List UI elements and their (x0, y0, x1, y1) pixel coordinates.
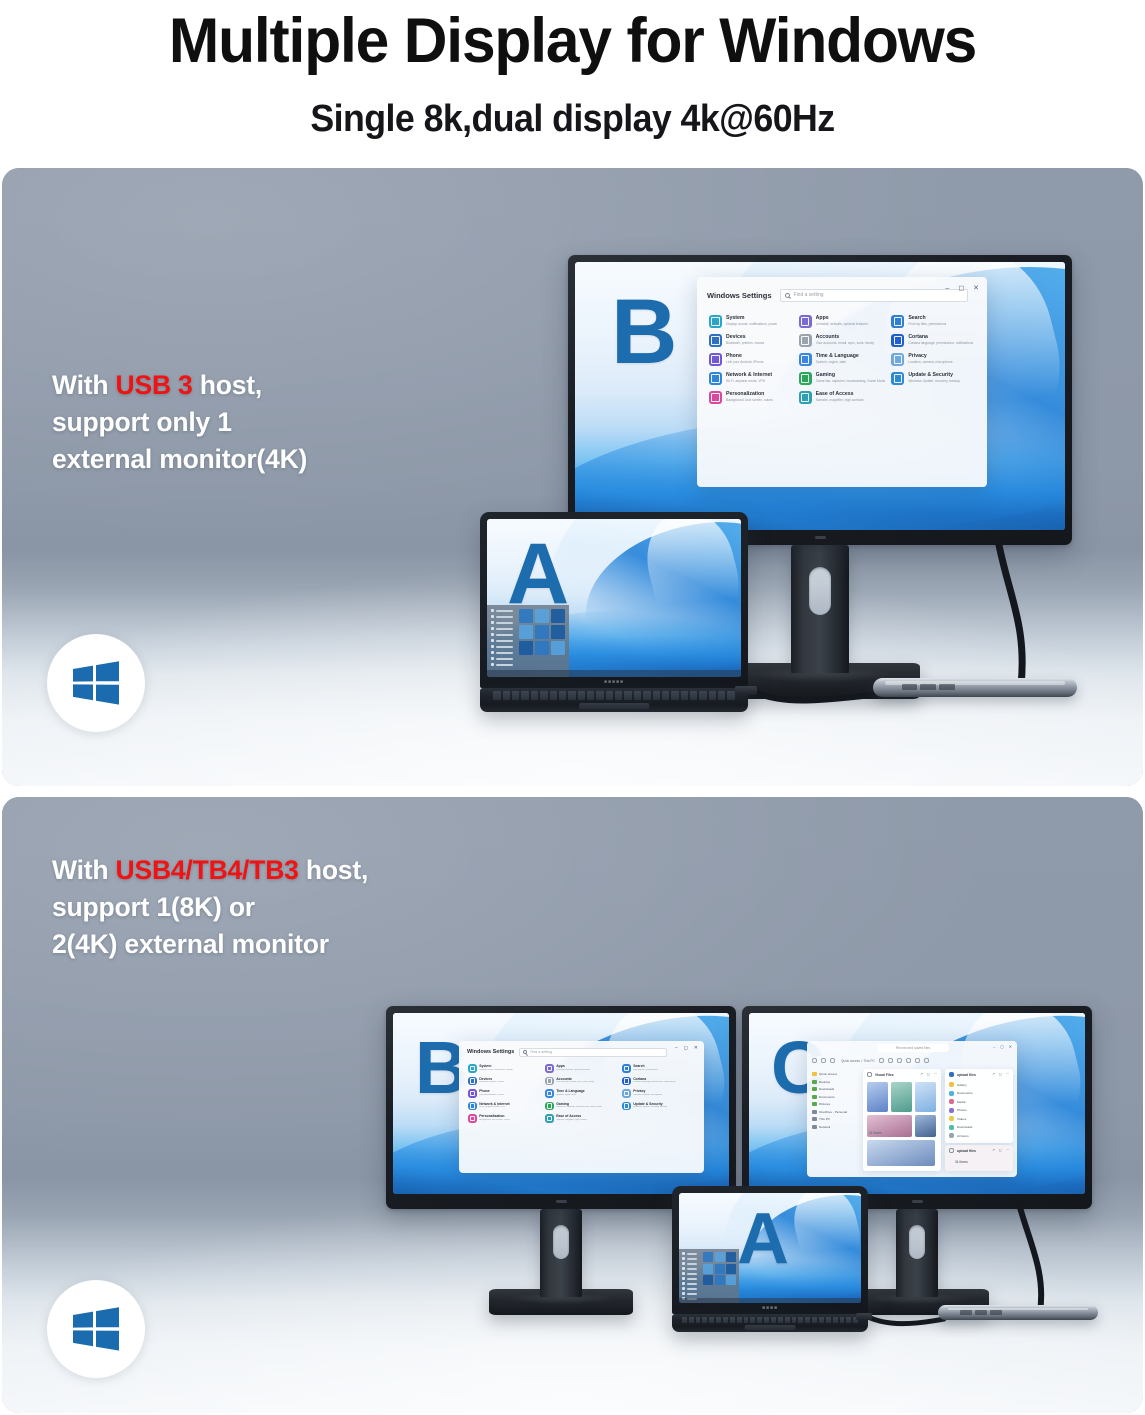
phone-icon (709, 353, 722, 366)
settings-item-text: Ease of AccessNarrator, magnifier, high … (816, 391, 864, 402)
card-actions[interactable]: ↗ ◻ ⋯ (920, 1072, 937, 1076)
keyboard-key[interactable] (737, 1317, 742, 1323)
laptop-a: A ■■■■■ (480, 512, 748, 712)
close-icon[interactable]: ✕ (973, 284, 979, 292)
keyboard-key[interactable] (723, 1317, 728, 1323)
keyboard-key[interactable] (671, 691, 678, 699)
settings-item[interactable]: PersonalizationBackground, lock screen, … (709, 391, 793, 404)
taskbar[interactable] (487, 670, 741, 677)
settings-item-text: SearchFind my files, permissions (908, 315, 946, 326)
settings-item[interactable]: DevicesBluetooth, printers, mouse (468, 1077, 541, 1086)
keyboard-key[interactable] (531, 691, 538, 699)
minimize-icon[interactable]: – (945, 285, 949, 292)
keyboard-key[interactable] (709, 1317, 714, 1323)
settings-item[interactable]: SearchFind my files, permissions (622, 1064, 695, 1073)
file-list-item[interactable]: Media (949, 1099, 1009, 1104)
photo-thumbnail[interactable] (867, 1140, 935, 1166)
app-label (496, 664, 513, 666)
maximize-icon[interactable]: ◻ (958, 284, 964, 292)
laptop-brand: ■■■■■ (480, 677, 748, 687)
settings-item[interactable]: PrivacyLocation, camera, microphone (622, 1089, 695, 1098)
copy-icon[interactable]: ◻ (927, 1072, 930, 1076)
settings-item-description: Display, sound, notifications, power (726, 322, 777, 326)
card-actions[interactable]: ↗ ◻ ⋯ (992, 1148, 1009, 1152)
settings-item-label: Ease of Access (816, 391, 864, 397)
settings-item-text: SearchFind my files, permissions (633, 1064, 658, 1071)
start-menu-app-item[interactable] (491, 645, 515, 648)
start-menu-app-item[interactable] (491, 627, 515, 630)
usb-hub-dock (873, 678, 1077, 697)
settings-item[interactable]: GamingGame bar, captures, broadcasting, … (545, 1102, 618, 1111)
cable-hole (809, 567, 831, 615)
settings-item-text: Ease of AccessNarrator, magnifier, high … (556, 1114, 587, 1121)
app-icon (491, 627, 494, 630)
settings-item[interactable]: SearchFind my files, permissions (891, 315, 975, 328)
settings-grid: SystemDisplay, sound, notifications, pow… (459, 1063, 704, 1123)
settings-item-description: Uninstall, defaults, optional features (816, 322, 868, 326)
file-list-item[interactable]: Documents (949, 1091, 1009, 1096)
usb-a-port (960, 1310, 972, 1315)
hub-ports (960, 1310, 1002, 1315)
file-list-item[interactable]: Photos (949, 1108, 1009, 1113)
rename-button[interactable] (888, 1058, 893, 1063)
settings-search-placeholder: Find a setting (530, 1050, 552, 1054)
search-icon (523, 1050, 527, 1054)
settings-item[interactable]: PersonalizationBackground, lock screen, … (468, 1114, 541, 1123)
language-icon (545, 1089, 554, 1098)
access-icon (799, 391, 812, 404)
start-menu-tile[interactable] (519, 609, 533, 623)
keyboard-key[interactable] (682, 1317, 687, 1323)
app-label (687, 1258, 697, 1260)
expand-icon[interactable]: ↗ (992, 1148, 995, 1152)
copy-icon[interactable]: ◻ (999, 1072, 1002, 1076)
phone-icon (468, 1089, 477, 1098)
more-icon[interactable]: ⋯ (934, 1072, 937, 1076)
start-menu-app-item[interactable] (491, 621, 515, 624)
windows-settings-window[interactable]: Windows Settings Find a setting – ◻ ✕ Sy… (459, 1041, 704, 1173)
settings-title: Windows Settings (467, 1049, 514, 1055)
start-menu-tile[interactable] (551, 609, 565, 623)
start-menu-tile[interactable] (715, 1264, 725, 1274)
keyboard[interactable] (682, 1317, 858, 1323)
keyboard-key[interactable] (634, 691, 641, 699)
keyboard-key[interactable] (606, 691, 613, 699)
close-icon[interactable]: ✕ (694, 1045, 698, 1051)
more-icon[interactable]: ⋯ (1006, 1148, 1009, 1152)
maximize-icon[interactable]: ◻ (1000, 1044, 1003, 1049)
explorer-tab[interactable]: Recent and saved files (877, 1044, 949, 1052)
settings-item[interactable]: Network & InternetWi-Fi, airplane mode, … (709, 372, 793, 385)
more-icon[interactable]: ⋯ (1006, 1072, 1009, 1076)
explorer-card-collapsed[interactable]: upload files ↗ ◻ ⋯ 31 items (945, 1145, 1013, 1171)
file-type-icon (949, 1133, 954, 1138)
keyboard-key[interactable] (624, 691, 631, 699)
start-menu-app-item[interactable] (491, 615, 515, 618)
start-menu-tile[interactable] (703, 1252, 713, 1262)
start-menu-tile[interactable] (726, 1252, 736, 1262)
start-menu-tile[interactable] (519, 641, 533, 655)
settings-item-description: Uninstall, defaults, optional features (556, 1069, 590, 1071)
keyboard-key[interactable] (730, 1317, 735, 1323)
keyboard-key[interactable] (792, 1317, 797, 1323)
gaming-icon (545, 1102, 554, 1111)
settings-item-description: Background, lock screen, colors (726, 398, 773, 402)
settings-item[interactable]: AccountsYour accounts, email, sync, work… (799, 334, 886, 347)
file-type-icon (949, 1108, 954, 1113)
settings-item-text: Time & LanguageSpeech, region, date (556, 1089, 584, 1096)
sidebar-item-label: This PC (819, 1117, 830, 1121)
keyboard-key[interactable] (503, 691, 510, 699)
sidebar-item-network[interactable]: Network (812, 1125, 855, 1129)
accounts-icon (799, 334, 812, 347)
keyboard-key[interactable] (653, 691, 660, 699)
start-menu-app-item[interactable] (682, 1272, 700, 1275)
usb-a-port (902, 684, 918, 690)
keyboard-key[interactable] (709, 691, 716, 699)
start-menu-app-item[interactable] (491, 657, 515, 660)
start-menu-app-item[interactable] (682, 1257, 700, 1260)
start-menu-app-item[interactable] (491, 663, 515, 666)
globe-icon (468, 1102, 477, 1111)
keyboard-key[interactable] (805, 1317, 810, 1323)
start-menu-tile[interactable] (703, 1264, 713, 1274)
access-icon (545, 1114, 554, 1123)
sidebar-item-onedrive-personal[interactable]: OneDrive - Personal (812, 1110, 855, 1114)
card-title: upload files (957, 1073, 976, 1077)
minimize-icon[interactable]: – (675, 1045, 678, 1051)
copy-icon[interactable]: ◻ (999, 1148, 1002, 1152)
explorer-toolbar[interactable]: Quick access > This PC (807, 1055, 1017, 1066)
settings-item[interactable]: CortanaCortana language, permissions, no… (891, 334, 975, 347)
keyboard-key[interactable] (615, 691, 622, 699)
start-menu[interactable] (487, 605, 569, 677)
folder-icon (949, 1148, 954, 1153)
keyboard-key[interactable] (750, 1317, 755, 1323)
update-icon (622, 1102, 631, 1111)
sidebar-item-label: Desktop (819, 1080, 830, 1084)
keyboard-key[interactable] (757, 1317, 762, 1323)
monitor-b-dual: B Windows Settings Find a setting – ◻ ✕ (386, 1006, 736, 1209)
delete-button[interactable] (906, 1058, 911, 1063)
photo-thumbnail[interactable] (915, 1115, 936, 1137)
card-actions[interactable]: ↗ ◻ ⋯ (992, 1072, 1009, 1076)
window-controls[interactable]: – ◻ ✕ (675, 1045, 698, 1051)
settings-item[interactable]: Time & LanguageSpeech, region, date (545, 1089, 618, 1098)
usb-a-port (975, 1310, 987, 1315)
keyboard-key[interactable] (662, 691, 669, 699)
monitor-c-screen: C Recent and saved files – ◻ ✕ Quick acc… (749, 1013, 1085, 1194)
monitor-power-cable (975, 545, 1045, 695)
settings-item[interactable]: Update & SecurityWindows Update, recover… (891, 372, 975, 385)
card-title: upload files (957, 1149, 976, 1153)
expand-icon[interactable]: ↗ (992, 1072, 995, 1076)
card-header: upload files ↗ ◻ ⋯ (945, 1069, 1013, 1080)
start-menu-tile[interactable] (519, 625, 533, 639)
keyboard-key[interactable] (512, 691, 519, 699)
keyboard-key[interactable] (798, 1317, 803, 1323)
start-menu-tile[interactable] (726, 1275, 736, 1285)
keyboard-key[interactable] (771, 1317, 776, 1323)
keyboard-key[interactable] (716, 1317, 721, 1323)
file-explorer-window[interactable]: Recent and saved files – ◻ ✕ Quick acces… (807, 1041, 1017, 1177)
start-menu-app-item[interactable] (682, 1267, 700, 1270)
sidebar-item-this-pc[interactable]: This PC (812, 1117, 855, 1121)
minimize-icon[interactable]: – (993, 1044, 995, 1049)
keyboard-key[interactable] (812, 1317, 817, 1323)
brush-icon (709, 391, 722, 404)
keyboard-key[interactable] (596, 691, 603, 699)
laptop-a-base (480, 688, 748, 712)
start-menu-app-item[interactable] (491, 651, 515, 654)
settings-item[interactable]: CortanaCortana language, permissions, no… (622, 1077, 695, 1086)
sort-button[interactable] (915, 1058, 920, 1063)
page-title: Multiple Display for Windows (23, 2, 1122, 80)
settings-search-input[interactable]: Find a setting (780, 289, 968, 302)
keyboard-key[interactable] (578, 691, 585, 699)
file-list-item-label: Gallery (957, 1083, 967, 1087)
keyboard-key[interactable] (550, 691, 557, 699)
settings-search-input[interactable]: Find a setting (519, 1048, 667, 1057)
laptop-a-lid: A ■■■■■ (480, 512, 748, 688)
settings-item[interactable]: PrivacyLocation, camera, microphone (891, 353, 975, 366)
settings-title: Windows Settings (707, 291, 772, 300)
start-menu-app-item[interactable] (682, 1252, 700, 1255)
start-menu-app-item[interactable] (491, 609, 515, 612)
file-type-icon (949, 1091, 954, 1096)
app-icon (491, 645, 494, 648)
settings-item[interactable]: PhoneLink your Android, iPhone (468, 1089, 541, 1098)
settings-item-description: Bluetooth, printers, mouse (726, 341, 764, 345)
sidebar-item-downloads[interactable]: Downloads (812, 1087, 855, 1091)
keyboard-key[interactable] (702, 1317, 707, 1323)
cut-button[interactable] (821, 1058, 826, 1063)
start-menu-tile[interactable] (703, 1275, 713, 1285)
start-menu-tile[interactable] (551, 641, 565, 655)
keyboard-key[interactable] (826, 1317, 831, 1323)
settings-item[interactable]: Ease of AccessNarrator, magnifier, high … (545, 1114, 618, 1123)
paste-button[interactable] (879, 1058, 884, 1063)
keyboard-key[interactable] (718, 691, 725, 699)
app-label (496, 658, 513, 660)
screen-letter-b: B (611, 286, 677, 378)
file-type-icon (949, 1099, 954, 1104)
file-list-item-label: Documents (957, 1091, 973, 1095)
settings-item-description: Narrator, magnifier, high contrast (816, 398, 864, 402)
keyboard-key[interactable] (778, 1317, 783, 1323)
keyboard-key[interactable] (699, 691, 706, 699)
sidebar-item-desktop[interactable]: Desktop (812, 1080, 855, 1084)
app-icon (682, 1267, 685, 1270)
app-icon (491, 609, 494, 612)
settings-item-description: Game bar, captures, broadcasting, Game M… (556, 1106, 602, 1108)
file-list-item[interactable]: Videos (949, 1116, 1009, 1121)
start-menu-app-item[interactable] (491, 633, 515, 636)
photo-thumbnail[interactable] (867, 1082, 888, 1112)
settings-item-label: Time & Language (816, 353, 859, 359)
start-menu-tile[interactable] (726, 1264, 736, 1274)
settings-item-text: Update & SecurityWindows Update, recover… (908, 372, 960, 383)
windows-settings-window[interactable]: Windows Settings Find a setting – ◻ ✕ Sy… (697, 277, 987, 487)
sidebar-item-pictures[interactable]: Pictures (812, 1102, 855, 1106)
start-menu-tiles[interactable] (519, 609, 565, 673)
start-menu-tile[interactable] (535, 609, 549, 623)
keyboard[interactable] (493, 691, 734, 699)
trackpad[interactable] (745, 1325, 796, 1330)
copy-line-2: support only 1 (52, 404, 307, 441)
start-menu-tiles[interactable] (703, 1252, 736, 1300)
settings-item[interactable]: AppsUninstall, defaults, optional featur… (545, 1064, 618, 1073)
sidebar-item-label: Quick access (819, 1072, 837, 1076)
keyboard-key[interactable] (785, 1317, 790, 1323)
file-list[interactable]: GalleryDocumentsMediaPhotosVideosDownloa… (949, 1082, 1009, 1142)
sidebar-item-documents[interactable]: Documents (812, 1095, 855, 1099)
settings-item-description: Wi-Fi, airplane mode, VPN (479, 1106, 509, 1108)
close-icon[interactable]: ✕ (1009, 1044, 1012, 1049)
share-button[interactable] (897, 1058, 902, 1063)
settings-item[interactable]: DevicesBluetooth, printers, mouse (709, 334, 793, 347)
window-controls[interactable]: – ◻ ✕ (993, 1044, 1012, 1049)
settings-item[interactable]: AccountsYour accounts, email, sync, work… (545, 1077, 618, 1086)
app-label (496, 640, 513, 642)
monitor-c-bezel: C Recent and saved files – ◻ ✕ Quick acc… (742, 1006, 1092, 1209)
keyboard-key[interactable] (559, 691, 566, 699)
settings-item-label: Phone (726, 353, 764, 359)
sidebar-item-label: Downloads (819, 1087, 834, 1091)
sidebar-item-quick-access[interactable]: Quick access (812, 1072, 855, 1076)
start-menu-app-item[interactable] (682, 1292, 700, 1295)
maximize-icon[interactable]: ◻ (684, 1045, 688, 1051)
keyboard-key[interactable] (587, 691, 594, 699)
picture-icon (812, 1102, 817, 1106)
settings-item-label: Accounts (816, 334, 874, 340)
sidebar-item-label: OneDrive - Personal (819, 1110, 847, 1114)
file-list-item[interactable]: All items (949, 1133, 1009, 1138)
keyboard-key[interactable] (540, 691, 547, 699)
keyboard-key[interactable] (643, 691, 650, 699)
settings-item[interactable]: SystemDisplay, sound, notifications, pow… (709, 315, 793, 328)
start-menu-tile[interactable] (715, 1275, 725, 1285)
file-list-item[interactable]: Downloads (949, 1125, 1009, 1130)
app-label (496, 610, 513, 612)
settings-item-label: Privacy (908, 353, 952, 359)
keyboard-key[interactable] (819, 1317, 824, 1323)
settings-item[interactable]: Network & InternetWi-Fi, airplane mode, … (468, 1102, 541, 1111)
keyboard-key[interactable] (493, 691, 500, 699)
keyboard-key[interactable] (744, 1317, 749, 1323)
explorer-sidebar[interactable]: Quick accessDesktopDownloadsDocumentsPic… (807, 1068, 859, 1177)
expand-icon[interactable]: ↗ (920, 1072, 923, 1076)
start-menu-app-item[interactable] (682, 1277, 700, 1280)
keyboard-key[interactable] (681, 691, 688, 699)
keyboard-key[interactable] (727, 691, 734, 699)
search-icon (785, 293, 790, 298)
start-menu-tile[interactable] (535, 625, 549, 639)
keyboard-key[interactable] (833, 1317, 838, 1323)
settings-item-label: Gaming (556, 1102, 602, 1106)
keyboard-key[interactable] (840, 1317, 845, 1323)
copy-button[interactable] (830, 1058, 835, 1063)
settings-item-text: Update & SecurityWindows Update, recover… (633, 1102, 667, 1109)
start-menu-app-list[interactable] (682, 1252, 700, 1300)
panel-usb4-copy: With USB4/TB4/TB3 host, support 1(8K) or… (52, 852, 368, 963)
apps-icon (545, 1064, 554, 1073)
settings-item-description: Find my files, permissions (908, 322, 946, 326)
new-button[interactable] (812, 1058, 817, 1063)
keyboard-key[interactable] (521, 691, 528, 699)
keyboard-key[interactable] (689, 1317, 694, 1323)
taskbar[interactable] (679, 1298, 861, 1303)
settings-titlebar: Windows Settings Find a setting – ◻ ✕ (459, 1041, 704, 1063)
monitor-c-stand-neck (896, 1209, 938, 1297)
update-icon (891, 372, 904, 385)
search-icon (891, 315, 904, 328)
photo-thumbnail[interactable] (915, 1082, 936, 1112)
start-menu-app-item[interactable] (682, 1262, 700, 1265)
file-list-item-label: All items (957, 1134, 969, 1138)
settings-item-description: Cortana language, permissions, notificat… (633, 1081, 675, 1083)
keyboard-key[interactable] (696, 1317, 701, 1323)
explorer-card-thumbnails[interactable]: Visual Files ↗ ◻ ⋯ 31 items (863, 1069, 941, 1171)
explorer-card-list[interactable]: upload files ↗ ◻ ⋯ GalleryDocumentsMedia… (945, 1069, 1013, 1143)
keyboard-key[interactable] (568, 691, 575, 699)
trackpad[interactable] (579, 703, 649, 709)
search-icon (622, 1064, 631, 1073)
monitor-b-screen: B Windows Settings Find a setting – ◻ ✕ (575, 262, 1065, 530)
start-menu[interactable] (679, 1249, 739, 1303)
settings-item[interactable]: Update & SecurityWindows Update, recover… (622, 1102, 695, 1111)
settings-item[interactable]: AppsUninstall, defaults, optional featur… (799, 315, 886, 328)
photo-thumbnail[interactable] (891, 1082, 912, 1112)
start-menu-tile[interactable] (535, 641, 549, 655)
thumbnail-grid[interactable] (863, 1082, 941, 1166)
keyboard-key[interactable] (690, 691, 697, 699)
file-list-item-label: Downloads (957, 1125, 972, 1129)
app-icon (682, 1282, 685, 1285)
settings-item-description: Link your Android, iPhone (479, 1094, 504, 1096)
settings-item-label: System (726, 315, 777, 321)
monitor-b-dual-screen: B Windows Settings Find a setting – ◻ ✕ (393, 1013, 729, 1194)
breadcrumb[interactable]: Quick access > This PC (841, 1059, 875, 1063)
settings-item[interactable]: PhoneLink your Android, iPhone (709, 353, 793, 366)
settings-item[interactable]: SystemDisplay, sound, notifications, pow… (468, 1064, 541, 1073)
settings-item[interactable]: Time & LanguageSpeech, region, date (799, 353, 886, 366)
gaming-icon (799, 372, 812, 385)
settings-item-text: DevicesBluetooth, printers, mouse (479, 1077, 504, 1084)
app-icon (491, 651, 494, 654)
start-menu-tile[interactable] (715, 1252, 725, 1262)
start-menu-app-item[interactable] (682, 1282, 700, 1285)
display-icon (468, 1064, 477, 1073)
settings-item-label: Devices (479, 1077, 504, 1081)
screen-letter-a: A (737, 1203, 789, 1275)
view-button[interactable] (924, 1058, 929, 1063)
keyboard-key[interactable] (764, 1317, 769, 1323)
settings-search-placeholder: Find a setting (794, 292, 824, 298)
keyboard-key[interactable] (846, 1317, 851, 1323)
window-controls[interactable]: – ◻ ✕ (945, 284, 979, 292)
file-list-item[interactable]: Gallery (949, 1082, 1009, 1087)
settings-item-label: Update & Security (908, 372, 960, 378)
settings-item[interactable]: GamingGame bar, captures, broadcasting, … (799, 372, 886, 385)
settings-item[interactable]: Ease of AccessNarrator, magnifier, high … (799, 391, 886, 404)
start-menu-tile[interactable] (551, 625, 565, 639)
settings-item-text: SystemDisplay, sound, notifications, pow… (726, 315, 777, 326)
start-menu-app-list[interactable] (491, 609, 515, 673)
start-menu-app-item[interactable] (682, 1287, 700, 1290)
start-menu-app-item[interactable] (491, 639, 515, 642)
app-icon (491, 615, 494, 618)
